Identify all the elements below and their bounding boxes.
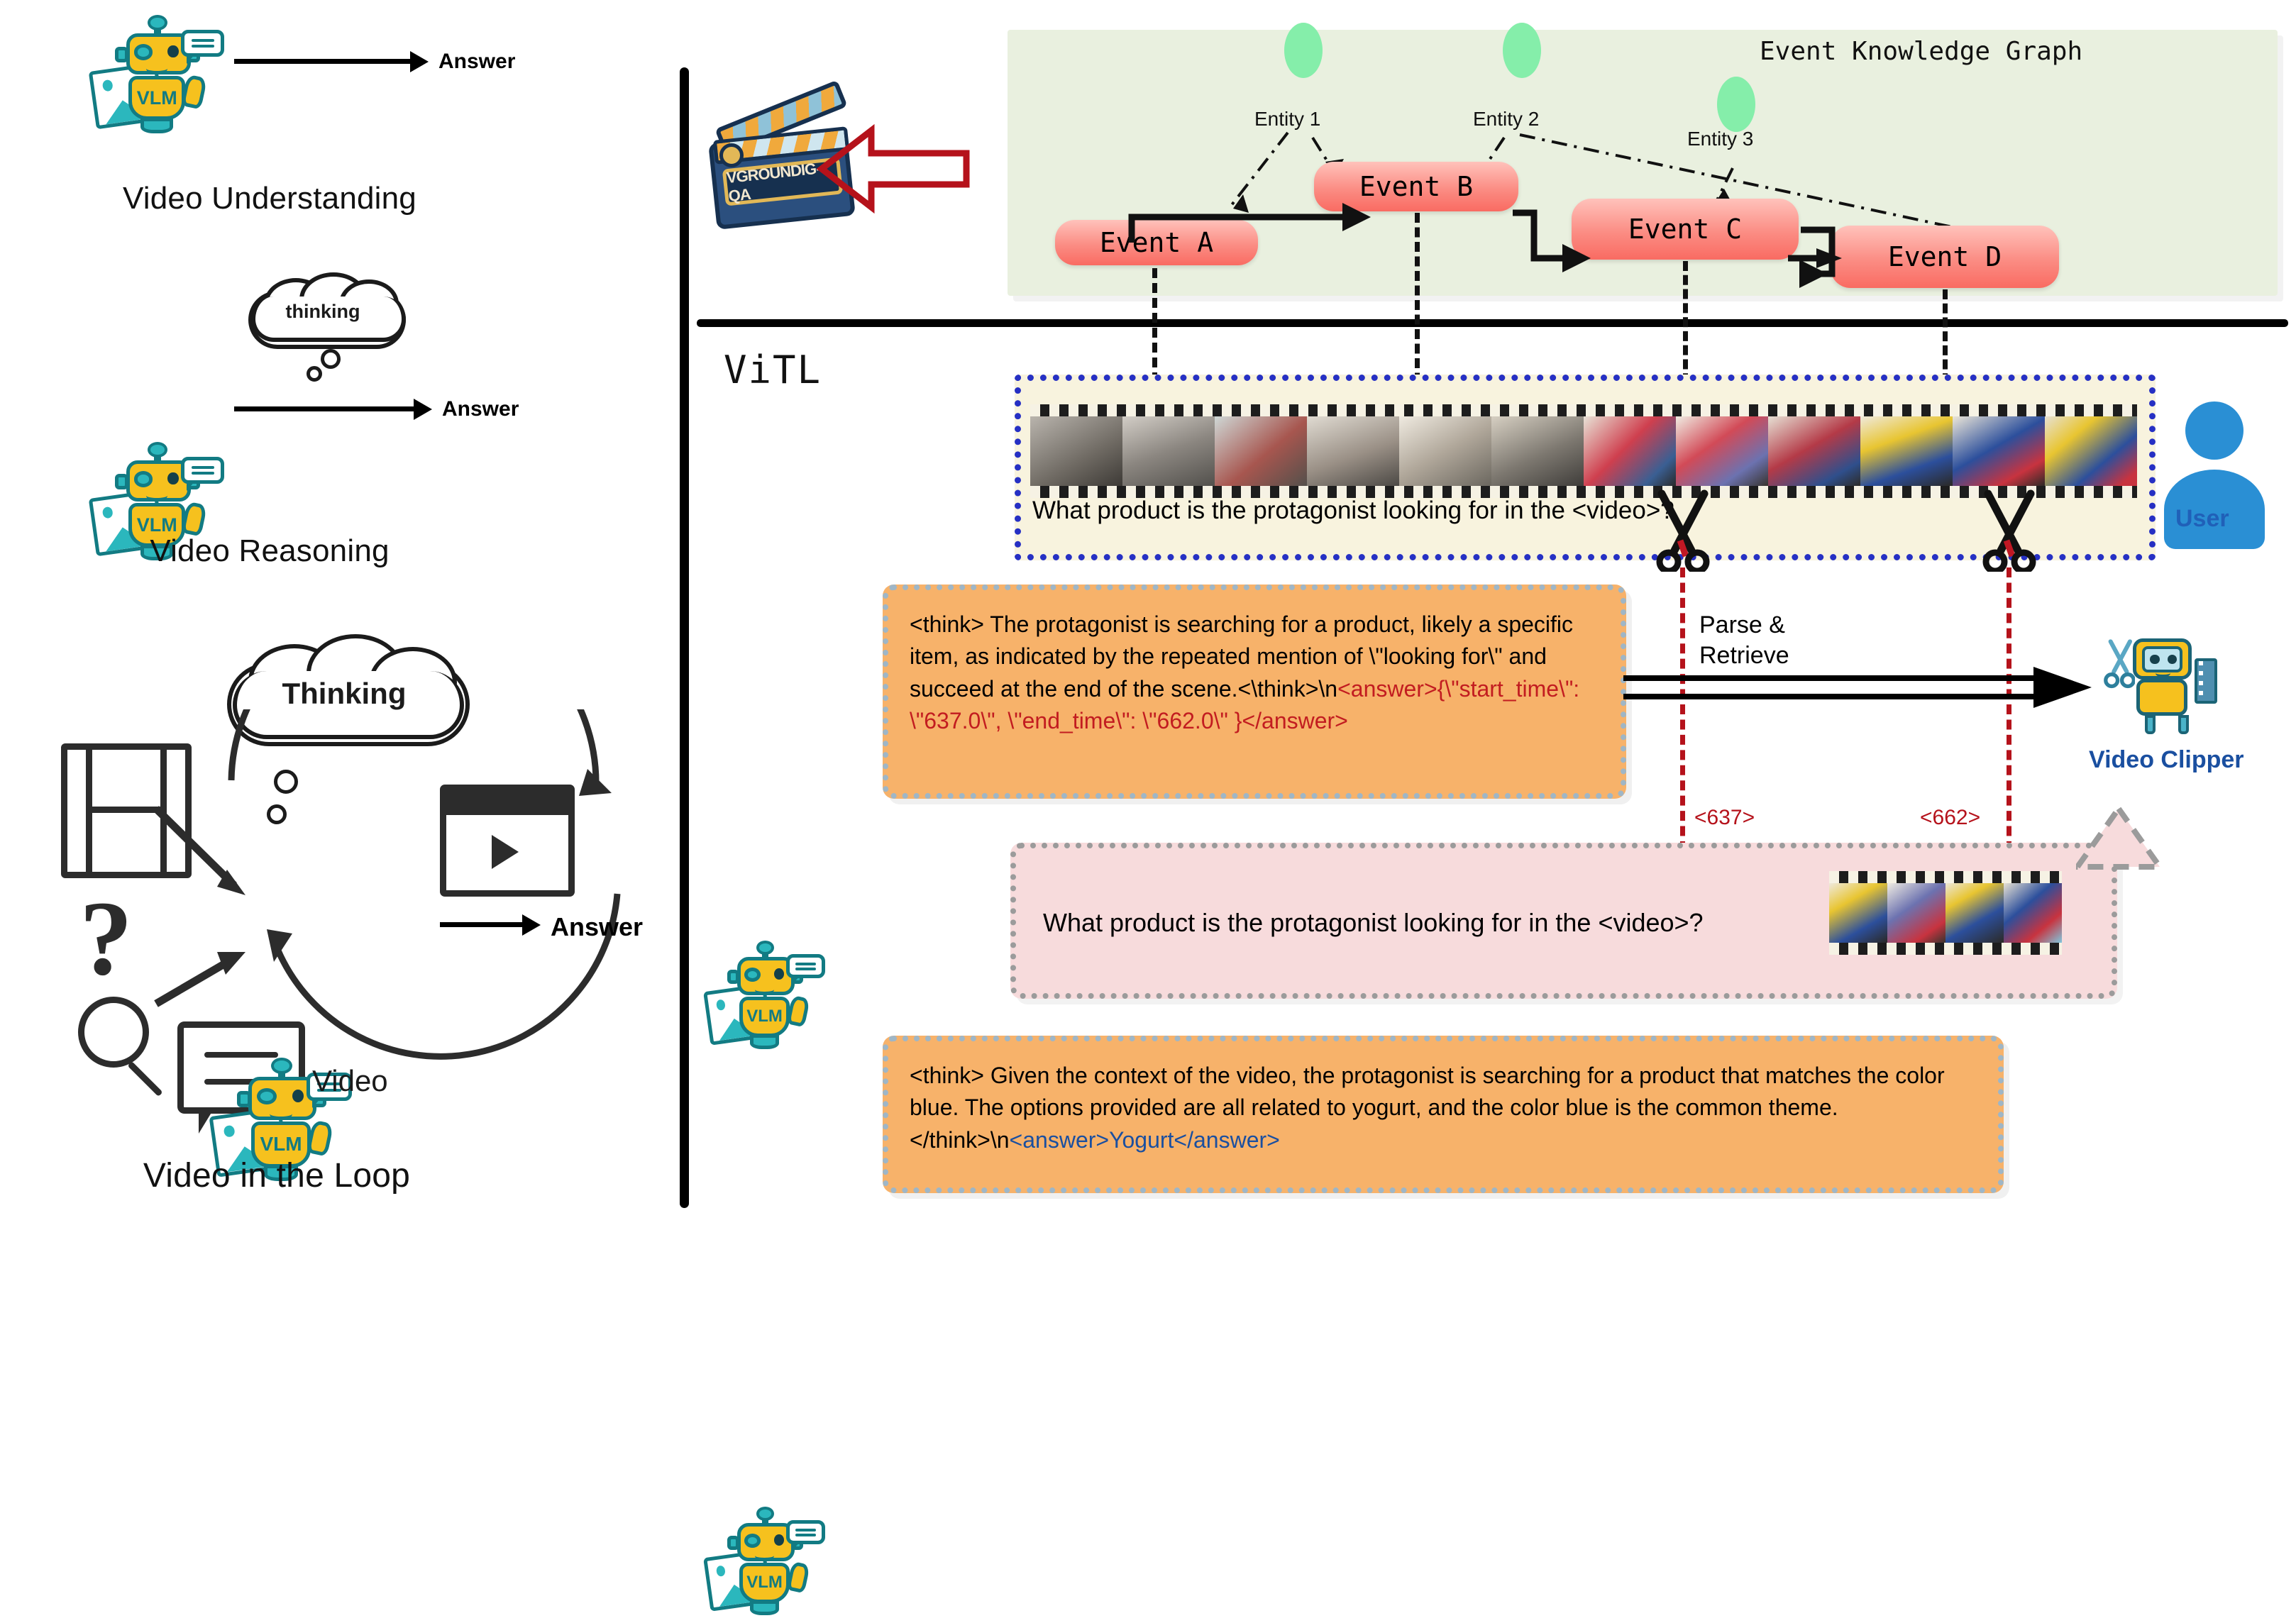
video-clipper-label: Video Clipper	[2089, 746, 2244, 774]
understanding-arrow-head	[410, 51, 429, 72]
clip-end-timestamp: <662>	[1920, 806, 1980, 830]
video-clipper-robot-icon	[2100, 624, 2235, 745]
vlm-agent-icon-understanding: VLM	[92, 20, 227, 142]
thought-dot-small	[307, 366, 322, 382]
thought-dot-large	[321, 349, 341, 369]
parse-retrieve-label: Parse & Retrieve	[1699, 610, 1789, 670]
scissors-icon-clipper	[2103, 636, 2136, 694]
understanding-arrow-shaft	[234, 59, 412, 64]
user-label: User	[2175, 505, 2229, 533]
vlm-agent-label: VLM	[251, 1133, 311, 1156]
parse-retrieve-line1: Parse &	[1699, 610, 1789, 641]
caption-video-in-the-loop: Video in the Loop	[0, 1156, 553, 1195]
event-b-timeline-link	[1415, 213, 1420, 397]
event-sequence-edges	[1008, 30, 2285, 314]
assistant-answer-text-2: <answer>Yogurt</answer>	[1010, 1127, 1280, 1153]
question-mark-icon: ?	[79, 885, 133, 992]
loop-answer-arrow-head	[522, 914, 541, 936]
clipper-output-pointer	[2076, 802, 2204, 936]
panel-horizontal-divider	[697, 319, 2288, 327]
vlm-agent-label: VLM	[739, 1573, 790, 1592]
user-avatar-head-icon	[2185, 401, 2243, 460]
thinking-cloud-label-reasoning: thinking	[248, 301, 397, 323]
caption-video-understanding: Video Understanding	[0, 181, 539, 216]
caption-video-reasoning: Video Reasoning	[0, 533, 539, 569]
thinking-cloud-reasoning: thinking	[248, 282, 397, 340]
vlm-agent-label: VLM	[739, 1007, 790, 1026]
vitl-section-label: ViTL	[724, 348, 822, 392]
logo-left-arrow-icon	[816, 119, 972, 218]
reasoning-arrow-shaft	[234, 406, 415, 411]
user-question-text: What product is the protagonist looking …	[1032, 497, 1674, 525]
clipped-video-filmstrip[interactable]	[1829, 871, 2062, 955]
event-c-to-d-arrowhead	[1788, 248, 1873, 291]
reasoning-answer-label: Answer	[442, 397, 519, 421]
parse-retrieve-arrow	[1623, 667, 2106, 714]
vlm-agent-icon-turn1: VLM	[707, 945, 827, 1057]
vlm-agent-label: VLM	[128, 514, 185, 536]
loop-answer-arrow-shaft	[440, 922, 525, 927]
clipped-question-text: What product is the protagonist looking …	[1043, 908, 1704, 938]
clapperboard-play-icon	[440, 785, 575, 897]
scissors-cut-icon-start[interactable]	[1648, 489, 1718, 572]
assistant-think-box-1: <think> The protagonist is searching for…	[883, 585, 1626, 799]
clip-start-timestamp: <637>	[1694, 806, 1755, 830]
reasoning-arrow-head	[414, 399, 432, 420]
assistant-think-box-2: <think> Given the context of the video, …	[883, 1036, 2004, 1193]
video-filmstrip[interactable]	[1030, 404, 2137, 498]
understanding-answer-label: Answer	[438, 50, 515, 74]
magnifier-icon	[78, 997, 149, 1068]
parse-retrieve-line2: Retrieve	[1699, 641, 1789, 671]
thinking-cloud-label-loop: Thinking	[227, 677, 461, 711]
vlm-agent-icon-turn2: VLM	[707, 1511, 827, 1623]
scissors-cut-icon-end[interactable]	[1974, 489, 2045, 572]
loop-video-label: Video	[312, 1064, 388, 1098]
vlm-agent-label: VLM	[128, 87, 185, 109]
loop-answer-label: Answer	[551, 912, 643, 942]
